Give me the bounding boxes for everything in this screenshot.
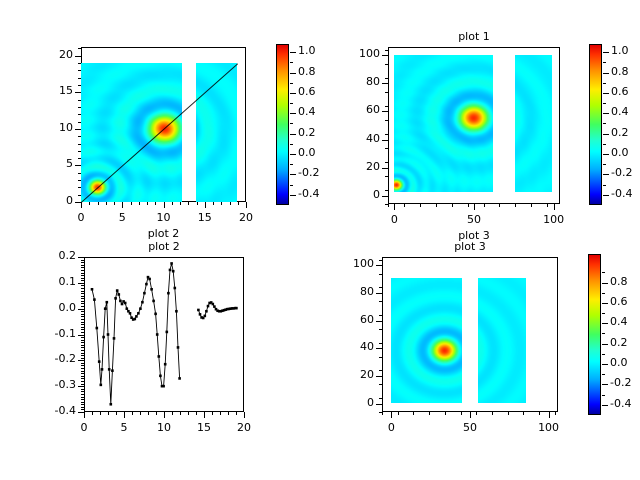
data-point-marker: [172, 270, 175, 273]
x-minor-tick: [108, 412, 109, 415]
x-tick-label: 10: [144, 421, 184, 434]
y-major-tick: [78, 283, 84, 284]
data-point-marker: [212, 303, 215, 306]
data-point-marker: [170, 262, 173, 265]
x-major-tick: [84, 412, 85, 418]
data-point-marker: [121, 303, 124, 306]
y-minor-tick: [81, 316, 84, 317]
y-minor-tick: [81, 280, 84, 281]
data-point-marker: [108, 368, 111, 371]
data-point-marker: [101, 368, 104, 371]
x-minor-tick: [180, 412, 181, 415]
x-minor-tick: [132, 412, 133, 415]
data-point-marker: [158, 355, 161, 358]
data-point-marker: [164, 363, 167, 366]
panel-bottomleft: -0.4-0.3-0.2-0.10.00.10.205101520plot 2: [0, 0, 640, 480]
y-minor-tick: [81, 391, 84, 392]
y-major-tick: [78, 309, 84, 310]
x-minor-tick: [188, 412, 189, 415]
y-minor-tick: [81, 303, 84, 304]
data-point-marker: [139, 307, 142, 310]
data-point-marker: [93, 298, 96, 301]
y-minor-tick: [81, 311, 84, 312]
x-minor-tick: [116, 412, 117, 415]
y-tick-label: 0.2: [40, 249, 76, 262]
y-minor-tick: [81, 324, 84, 325]
y-minor-tick: [81, 298, 84, 299]
x-major-tick: [244, 412, 245, 418]
data-point-marker: [156, 333, 159, 336]
y-major-tick: [78, 360, 84, 361]
x-minor-tick: [92, 412, 93, 415]
data-point-marker: [152, 300, 155, 303]
data-point-marker: [102, 336, 105, 339]
data-point-marker: [175, 310, 178, 313]
y-tick-label: 0.0: [40, 301, 76, 314]
y-minor-tick: [81, 340, 84, 341]
x-tick-label: 20: [224, 421, 264, 434]
data-point-marker: [162, 385, 165, 388]
data-point-marker: [126, 307, 129, 310]
y-minor-tick: [81, 350, 84, 351]
data-point-marker: [110, 403, 113, 406]
y-minor-tick: [81, 376, 84, 377]
x-minor-tick: [172, 412, 173, 415]
x-minor-tick: [100, 412, 101, 415]
y-minor-tick: [81, 273, 84, 274]
data-point-marker: [154, 313, 157, 316]
data-point-marker: [207, 305, 210, 308]
data-point-marker: [111, 369, 114, 372]
data-point-marker: [118, 293, 121, 296]
data-point-marker: [204, 315, 207, 318]
y-minor-tick: [81, 363, 84, 364]
data-point-marker: [106, 301, 109, 304]
data-point-marker: [235, 307, 238, 310]
figure-canvas: 0510152005101520plot 21.00.80.60.40.20.0…: [0, 0, 640, 480]
data-point-marker: [213, 305, 216, 308]
y-minor-tick: [81, 291, 84, 292]
data-point-marker: [107, 333, 110, 336]
data-point-marker: [166, 331, 169, 334]
y-tick-label: -0.3: [40, 378, 76, 391]
data-point-marker: [137, 312, 140, 315]
data-point-marker: [159, 375, 162, 378]
y-minor-tick: [81, 347, 84, 348]
data-point-marker: [150, 288, 153, 291]
x-minor-tick: [156, 412, 157, 415]
x-minor-tick: [220, 412, 221, 415]
y-major-tick: [78, 257, 84, 258]
y-minor-tick: [81, 358, 84, 359]
y-minor-tick: [81, 278, 84, 279]
x-tick-label: 0: [64, 421, 104, 434]
y-minor-tick: [81, 337, 84, 338]
y-minor-tick: [81, 288, 84, 289]
y-minor-tick: [81, 407, 84, 408]
line-path: [92, 263, 180, 404]
data-point-marker: [91, 288, 94, 291]
data-point-marker: [174, 287, 177, 290]
data-point-marker: [124, 302, 127, 305]
x-minor-tick: [236, 412, 237, 415]
y-major-tick: [78, 386, 84, 387]
x-minor-tick: [140, 412, 141, 415]
y-minor-tick: [81, 384, 84, 385]
x-minor-tick: [196, 412, 197, 415]
data-point-marker: [100, 384, 103, 387]
y-minor-tick: [81, 293, 84, 294]
y-minor-tick: [81, 306, 84, 307]
y-minor-tick: [81, 378, 84, 379]
y-minor-tick: [81, 285, 84, 286]
panel-title-bottomleft: plot 2: [84, 240, 244, 253]
y-minor-tick: [81, 402, 84, 403]
y-minor-tick: [81, 353, 84, 354]
data-point-marker: [114, 297, 117, 300]
y-minor-tick: [81, 275, 84, 276]
x-tick-label: 15: [184, 421, 224, 434]
data-point-marker: [119, 300, 122, 303]
y-minor-tick: [81, 389, 84, 390]
data-point-marker: [134, 318, 137, 321]
y-minor-tick: [81, 409, 84, 410]
y-tick-label: -0.4: [40, 404, 76, 417]
y-minor-tick: [81, 394, 84, 395]
y-minor-tick: [81, 368, 84, 369]
data-point-marker: [98, 360, 101, 363]
y-minor-tick: [81, 381, 84, 382]
data-point-marker: [167, 292, 170, 295]
y-major-tick: [78, 335, 84, 336]
x-minor-tick: [212, 412, 213, 415]
data-point-marker: [116, 289, 119, 292]
x-minor-tick: [228, 412, 229, 415]
y-minor-tick: [81, 327, 84, 328]
x-minor-tick: [148, 412, 149, 415]
y-minor-tick: [81, 355, 84, 356]
data-point-marker: [199, 313, 202, 316]
data-point-marker: [104, 307, 107, 310]
data-point-marker: [143, 292, 146, 295]
data-point-marker: [148, 278, 151, 281]
x-major-tick: [124, 412, 125, 418]
data-point-marker: [169, 269, 172, 272]
y-minor-tick: [81, 329, 84, 330]
y-minor-tick: [81, 265, 84, 266]
data-point-marker: [145, 283, 148, 286]
x-tick-label: 5: [104, 421, 144, 434]
data-point-marker: [205, 310, 208, 313]
y-tick-label: -0.1: [40, 327, 76, 340]
y-minor-tick: [81, 365, 84, 366]
data-point-marker: [113, 337, 116, 340]
y-minor-tick: [81, 260, 84, 261]
y-minor-tick: [81, 404, 84, 405]
y-minor-tick: [81, 332, 84, 333]
data-point-marker: [135, 315, 138, 318]
data-point-marker: [96, 327, 99, 330]
y-minor-tick: [81, 262, 84, 263]
y-tick-label: 0.1: [40, 275, 76, 288]
y-minor-tick: [81, 319, 84, 320]
y-minor-tick: [81, 322, 84, 323]
y-minor-tick: [81, 371, 84, 372]
y-minor-tick: [81, 397, 84, 398]
y-minor-tick: [81, 342, 84, 343]
y-minor-tick: [81, 399, 84, 400]
y-minor-tick: [81, 373, 84, 374]
y-minor-tick: [81, 267, 84, 268]
y-minor-tick: [81, 296, 84, 297]
data-point-marker: [178, 377, 181, 380]
y-tick-label: -0.2: [40, 352, 76, 365]
y-minor-tick: [81, 314, 84, 315]
x-major-tick: [164, 412, 165, 418]
x-major-tick: [204, 412, 205, 418]
y-minor-tick: [81, 345, 84, 346]
data-point-marker: [197, 309, 200, 312]
y-minor-tick: [81, 270, 84, 271]
y-minor-tick: [81, 301, 84, 302]
data-point-marker: [177, 346, 180, 349]
data-point-marker: [129, 312, 132, 315]
data-point-marker: [141, 301, 144, 304]
